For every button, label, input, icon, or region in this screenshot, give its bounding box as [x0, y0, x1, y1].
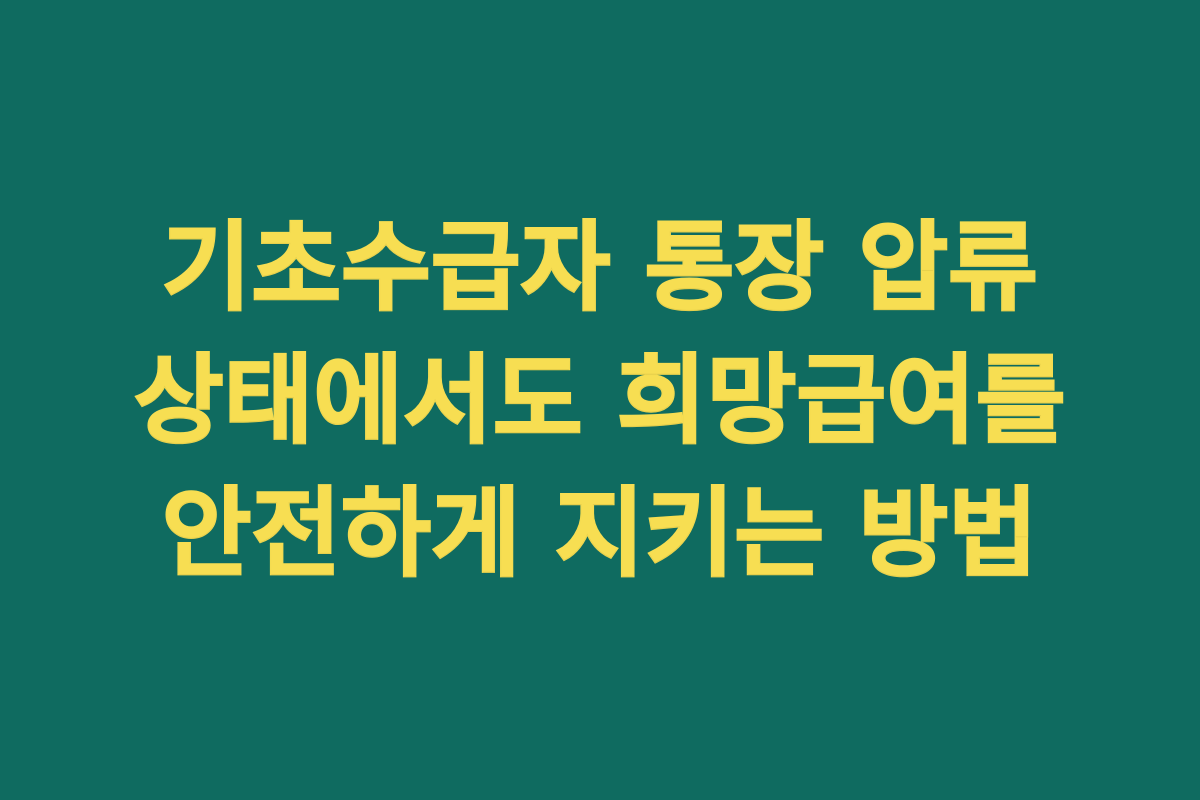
- headline-line-2: 상태에서도 희망급여를: [70, 334, 1130, 467]
- headline-line-3: 안전하게 지키는 방법: [70, 467, 1130, 600]
- title-card-canvas: 기초수급자 통장 압류 상태에서도 희망급여를 안전하게 지키는 방법: [0, 0, 1200, 800]
- headline-line-1: 기초수급자 통장 압류: [70, 201, 1130, 334]
- headline-block: 기초수급자 통장 압류 상태에서도 희망급여를 안전하게 지키는 방법: [70, 201, 1130, 600]
